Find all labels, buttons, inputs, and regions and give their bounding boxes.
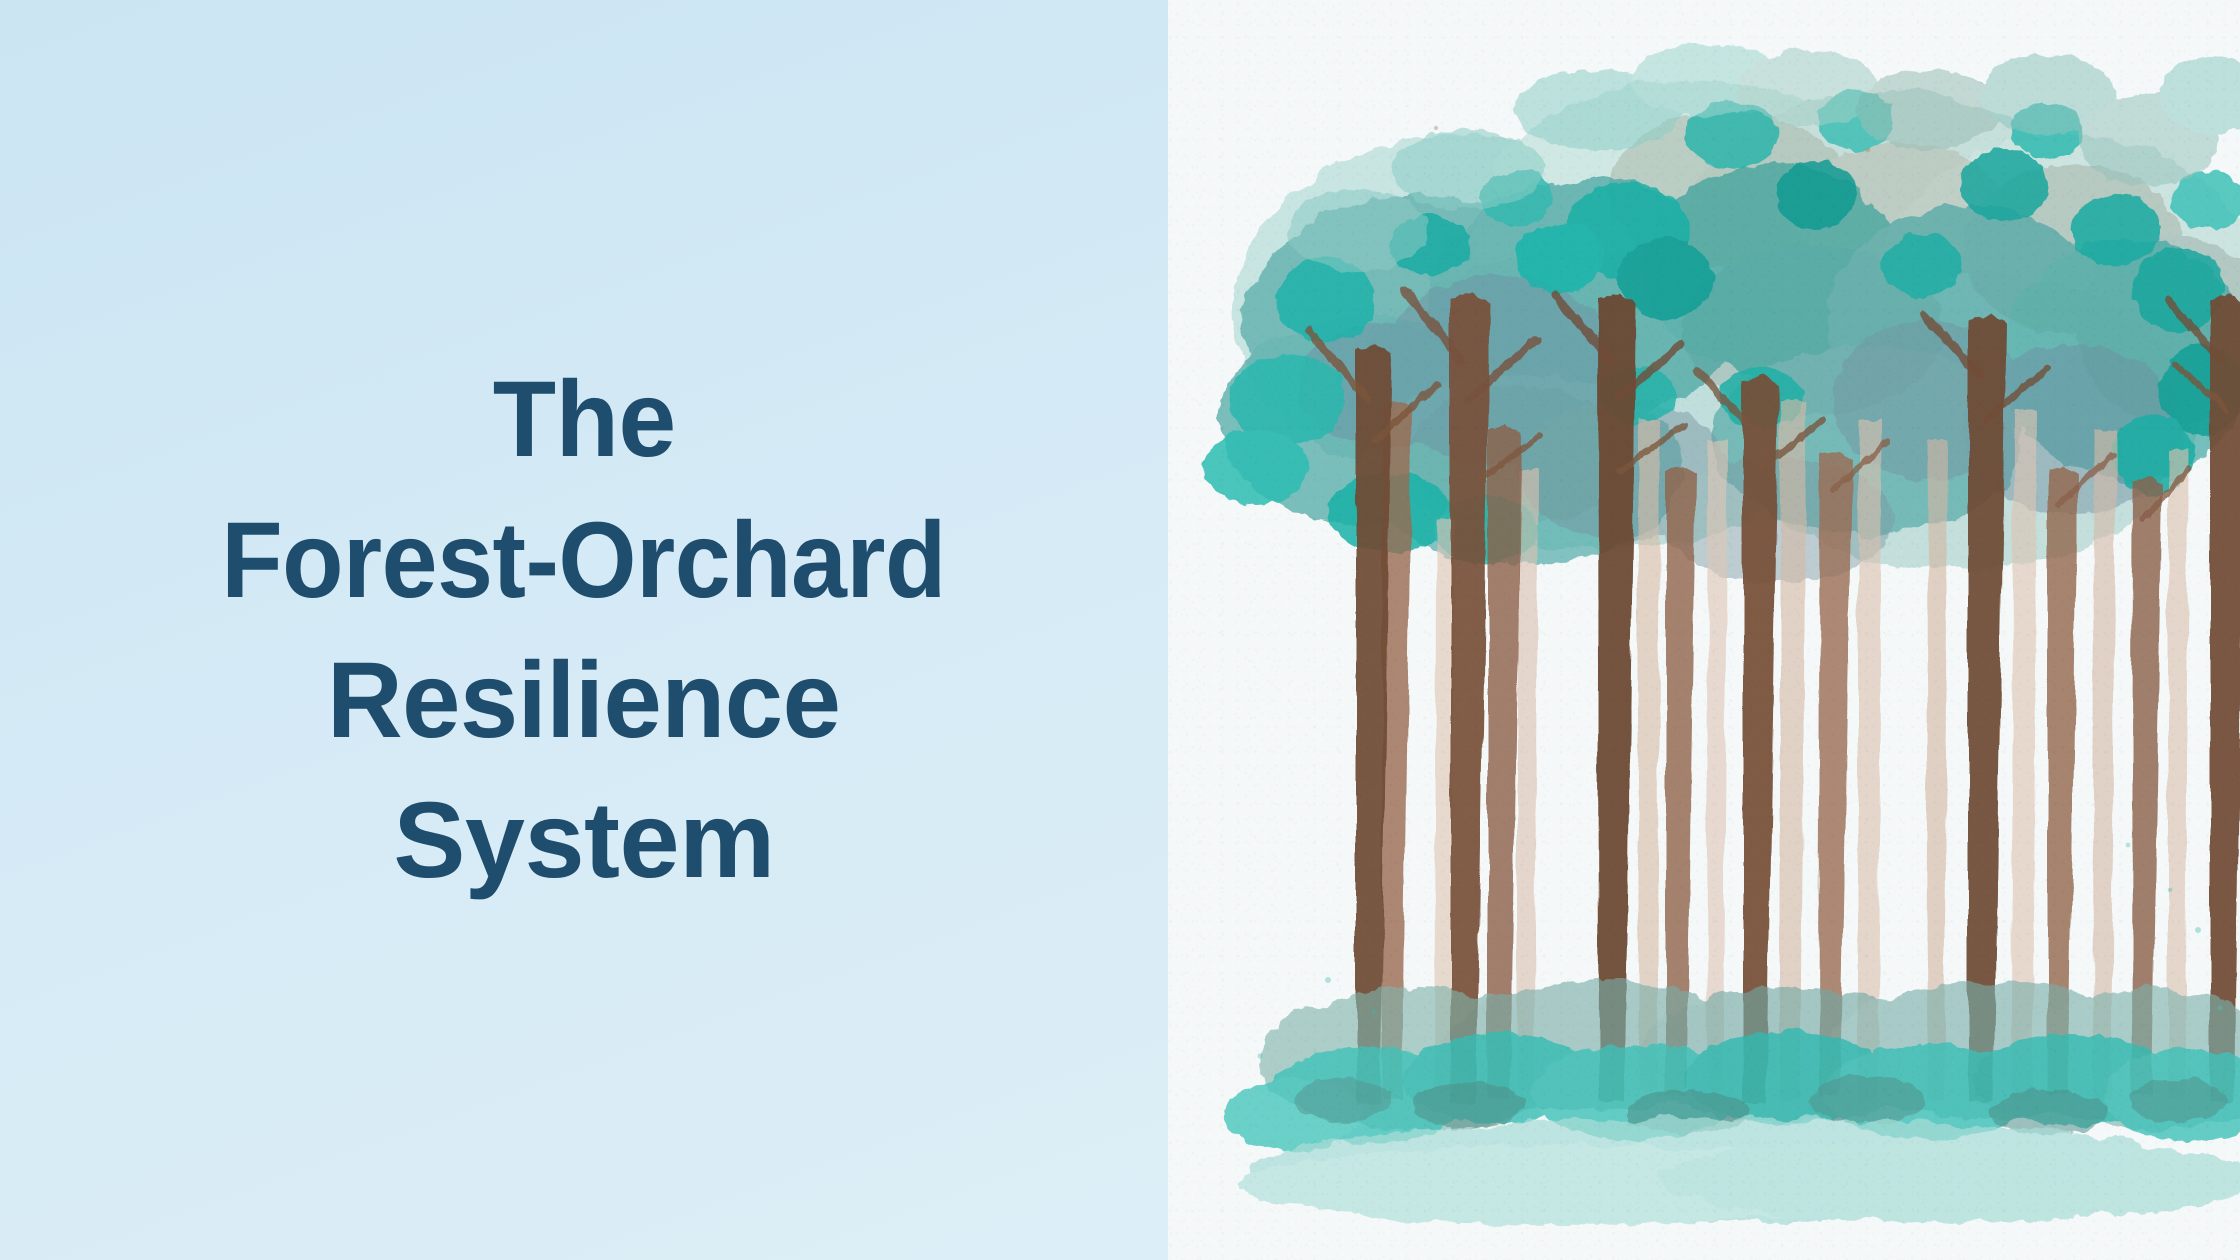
page-title: The Forest-Orchard Resilience System bbox=[0, 0, 1168, 1260]
slide-root: The Forest-Orchard Resilience System bbox=[0, 0, 2240, 1260]
title-line-2: Forest-Orchard bbox=[222, 490, 947, 630]
title-line-4: System bbox=[393, 770, 774, 910]
title-line-3: Resilience bbox=[327, 630, 840, 770]
paper-grain-overlay bbox=[1168, 0, 2240, 1260]
forest-artwork-svg bbox=[1168, 0, 2240, 1260]
title-line-1: The bbox=[493, 349, 676, 489]
watercolor-forest-illustration bbox=[1168, 0, 2240, 1260]
